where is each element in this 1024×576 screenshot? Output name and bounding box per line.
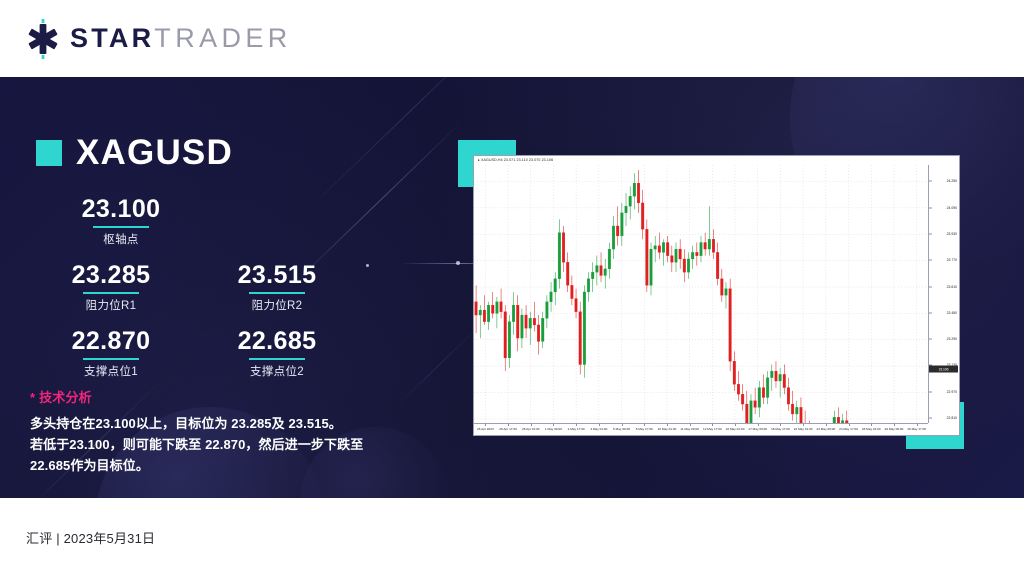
time-tick: 26 May 01:00 <box>862 427 881 431</box>
chart-title-text: XAGUSD,H4 23.071 23.110 23.070 23.106 <box>481 158 553 162</box>
resistance-row: 23.285 阻力位R1 23.515 阻力位R2 <box>36 261 366 313</box>
time-tick: 16 May 01:00 <box>726 427 745 431</box>
brand-wordmark: STARTRADER <box>70 25 292 52</box>
chart-title: ▸ XAGUSD,H4 23.071 23.110 23.070 23.106 <box>478 158 553 162</box>
time-tick: 17 May 09:00 <box>748 427 767 431</box>
page-footer: 汇评 | 2023年5月31日 <box>0 498 1024 576</box>
corner-bracket-top-left <box>458 140 473 187</box>
time-tick: 26 Apr 2023 <box>477 427 494 431</box>
level-r1-value: 23.285 <box>36 261 186 289</box>
level-r1: 23.285 阻力位R1 <box>36 261 186 313</box>
analysis-line-2: 若低于23.100，则可能下跌至 22.870，然后进一步下跌至 <box>30 434 390 455</box>
time-tick: 11 May 09:00 <box>680 427 699 431</box>
level-s1: 22.870 支撑点位1 <box>36 327 186 379</box>
level-s1-value: 22.870 <box>36 327 186 355</box>
level-r2: 23.515 阻力位R2 <box>202 261 352 313</box>
technical-analysis: * 技术分析 多头持仓在23.100以上，目标位为 23.285及 23.515… <box>30 387 390 476</box>
time-tick: 23 May 09:00 <box>816 427 835 431</box>
footer-caption: 汇评 | 2023年5月31日 <box>26 528 155 547</box>
time-tick: 18 May 17:00 <box>771 427 790 431</box>
time-tick: 22 May 01:00 <box>794 427 813 431</box>
pivot-levels: 23.100 枢轴点 23.285 阻力位R1 23.515 阻力位R2 22.… <box>36 195 366 379</box>
chart-zone: ▸ XAGUSD,H4 23.071 23.110 23.070 23.106 … <box>440 107 1000 477</box>
level-s2: 22.685 支撑点位2 <box>202 327 352 379</box>
support-row: 22.870 支撑点位1 22.685 支撑点位2 <box>36 327 366 379</box>
time-tick: 2 May 17:00 <box>568 427 585 431</box>
decorative-dot <box>366 264 369 267</box>
brand-logo: STARTRADER <box>22 18 292 60</box>
pivot-row: 23.100 枢轴点 <box>36 195 366 247</box>
time-tick: 28 Apr 01:00 <box>522 427 540 431</box>
time-tick: 10 May 01:00 <box>658 427 677 431</box>
chart-inner: ▸ XAGUSD,H4 23.071 23.110 23.070 23.106 … <box>474 156 959 435</box>
candlestick-plot <box>474 165 928 424</box>
level-underline <box>93 226 149 228</box>
analysis-line-3: 22.685作为目标位。 <box>30 455 390 476</box>
price-tick: 23.450 <box>947 311 957 315</box>
main-panel: XAGUSD 23.100 枢轴点 23.285 阻力位R1 23.515 阻力… <box>0 77 1024 498</box>
time-tick: 24 May 17:00 <box>839 427 858 431</box>
time-tick: 8 May 17:00 <box>636 427 653 431</box>
brand-name-trader: TRADER <box>154 23 291 53</box>
time-tick: 26 Apr 17:00 <box>499 427 517 431</box>
level-s2-value: 22.685 <box>202 327 352 355</box>
price-tick: 24.250 <box>947 179 957 183</box>
price-axis: 24.25024.09023.93023.77023.61023.45023.2… <box>928 165 959 423</box>
level-s2-label: 支撑点位2 <box>202 363 352 379</box>
price-tick: 24.090 <box>947 206 957 210</box>
current-price-tag: 23.106 <box>929 366 958 373</box>
price-tick: 23.290 <box>947 337 957 341</box>
level-s1-label: 支撑点位1 <box>36 363 186 379</box>
page-title: XAGUSD <box>76 135 233 170</box>
time-tick: 29 May 09:00 <box>885 427 904 431</box>
level-underline <box>83 292 139 294</box>
level-r2-value: 23.515 <box>202 261 352 289</box>
level-underline <box>249 292 305 294</box>
instrument-header: XAGUSD <box>36 135 233 170</box>
star-asterisk-icon <box>22 18 64 60</box>
price-tick: 22.810 <box>947 416 957 420</box>
price-tick: 23.930 <box>947 232 957 236</box>
level-underline <box>83 358 139 360</box>
time-axis: 26 Apr 202326 Apr 17:0028 Apr 01:001 May… <box>474 423 928 435</box>
analysis-title: * 技术分析 <box>30 387 390 406</box>
time-tick: 12 May 17:00 <box>703 427 722 431</box>
level-r1-label: 阻力位R1 <box>36 297 186 313</box>
page-header: STARTRADER <box>0 0 1024 77</box>
analysis-body: 多头持仓在23.100以上，目标位为 23.285及 23.515。 若低于23… <box>30 413 390 476</box>
level-pivot-value: 23.100 <box>36 195 206 223</box>
price-tick: 23.770 <box>947 258 957 262</box>
time-tick: 30 May 17:00 <box>907 427 926 431</box>
level-r2-label: 阻力位R2 <box>202 297 352 313</box>
time-tick: 5 May 09:00 <box>613 427 630 431</box>
analysis-line-1: 多头持仓在23.100以上，目标位为 23.285及 23.515。 <box>30 413 390 434</box>
price-tick: 22.970 <box>947 390 957 394</box>
level-pivot: 23.100 枢轴点 <box>36 195 206 247</box>
brand-name-star: STAR <box>70 23 154 53</box>
teal-square-marker-icon <box>36 140 62 166</box>
price-tick: 23.610 <box>947 285 957 289</box>
level-underline <box>249 358 305 360</box>
time-tick: 4 May 01:00 <box>590 427 607 431</box>
price-chart[interactable]: ▸ XAGUSD,H4 23.071 23.110 23.070 23.106 … <box>473 155 960 436</box>
level-pivot-label: 枢轴点 <box>36 231 206 247</box>
time-tick: 1 May 09:00 <box>545 427 562 431</box>
